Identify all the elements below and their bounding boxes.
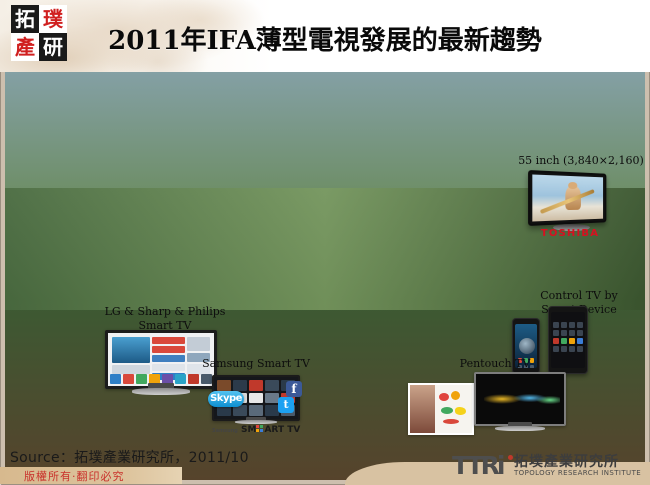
caption-lg-sharp-philips-line1: LG & Sharp & Philips [96, 306, 234, 319]
tri-name-en: TOPOLOGY RESEARCH INSTITUTE [514, 469, 641, 478]
tri-footer-logo: TTRi 拓墣產業研究所 TOPOLOGY RESEARCH INSTITUTE [452, 452, 648, 480]
caption-pentouch-tv: Pentouch TV [440, 358, 550, 371]
phone-screen [551, 312, 585, 368]
caption-55-inch: 55 inch (3,840×2,160) [512, 155, 650, 168]
tri-mark: TTRi [452, 453, 514, 479]
pentouch-signature-art [484, 390, 560, 408]
twitter-icon: t [278, 397, 294, 413]
phone-button-grid [553, 322, 583, 352]
slide-canvas: TRi TRi TRi TRi TRi TRi TRi TRi TRi TRi … [0, 0, 650, 485]
caption-control-tv-line1: Control TV by [518, 290, 640, 303]
samsung-wordmark: Samsung [212, 428, 238, 434]
tri-names: 拓墣產業研究所 TOPOLOGY RESEARCH INSTITUTE [514, 455, 641, 478]
pentouch-tv-device [474, 372, 566, 432]
drawing-board [435, 385, 472, 433]
samsung-squares-icon [256, 425, 264, 433]
page-title: 2011年IFA薄型電視發展的最新趨勢 [0, 20, 650, 57]
copyright-text: 版權所有‧翻印必究 [24, 468, 125, 484]
source-text: Source：拓墣產業研究所，2011/10 [10, 447, 249, 467]
tv-panel [528, 170, 606, 226]
tv-base [132, 388, 190, 395]
tri-name-cn: 拓墣產業研究所 [514, 455, 641, 469]
pentouch-photo [408, 383, 474, 435]
samsung-smart-tv-bottom: Skype f t Samsung SMART TV [212, 375, 300, 431]
tv-screen-image [532, 174, 603, 221]
brand-toshiba-right: TOSHIBA [528, 228, 612, 239]
smartphone-remote-right [548, 306, 588, 374]
toshiba-55-inch-tv [528, 172, 612, 224]
slide-header: 拓 璞 產 研 2011年IFA薄型電視發展的最新趨勢 [0, 0, 650, 72]
facebook-icon: f [286, 381, 302, 397]
children-photo [410, 385, 435, 433]
tv-base [235, 420, 277, 424]
samsung-smart-tv-logo: Samsung SMART TV [212, 425, 300, 435]
phone-dial-icon [519, 338, 535, 354]
smart-tv-suffix: ART TV [264, 425, 300, 435]
tv-screen [474, 372, 566, 426]
tri-mark-text: TTRi [452, 451, 503, 480]
tv-base [495, 426, 545, 431]
skype-icon: Skype [208, 391, 244, 407]
tri-dot-icon [508, 455, 513, 460]
smart-prefix: SM [241, 425, 256, 435]
caption-samsung-smart-tv: Samsung Smart TV [196, 358, 316, 371]
